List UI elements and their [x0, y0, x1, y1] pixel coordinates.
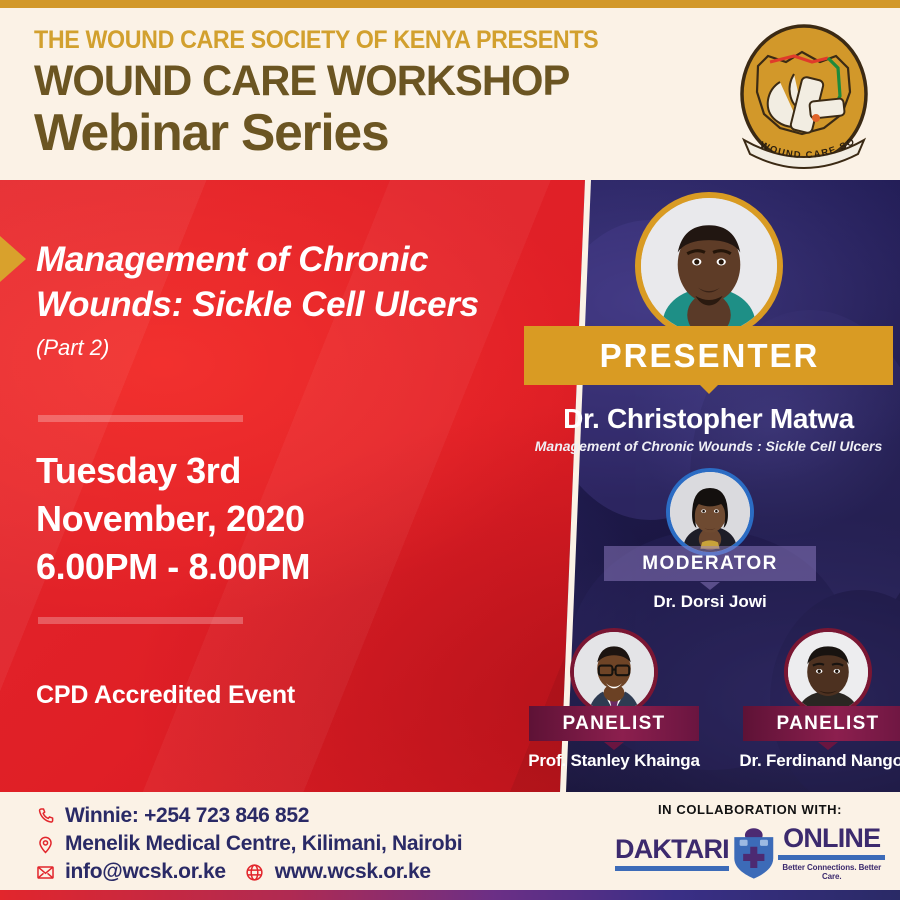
contact-row-address: Menelik Medical Centre, Kilimani, Nairob… — [32, 830, 462, 858]
event-datetime: Tuesday 3rd November, 2020 6.00PM - 8.00… — [36, 447, 310, 592]
contact-row-email-web: info@wcsk.or.ke www.wcsk.or.ke — [32, 858, 462, 886]
presenter-photo — [641, 198, 777, 334]
contact-row-phone: Winnie: +254 723 846 852 — [32, 802, 462, 830]
daktari-online-logo: DAKTARI ONLINE Better Connections. Bette… — [615, 824, 885, 882]
divider-top — [38, 415, 243, 422]
header-series-line: Webinar Series — [34, 106, 635, 161]
moderator-role-label: MODERATOR — [642, 553, 777, 574]
panelist-2-photo — [788, 632, 868, 712]
online-underline — [778, 855, 885, 860]
panelist-1-role-label: PANELIST — [563, 713, 666, 734]
contact-website-text[interactable]: www.wcsk.or.ke — [275, 860, 431, 884]
daktari-tagline: Better Connections. Better Care. — [778, 863, 885, 881]
moderator-name: Dr. Dorsi Jowi — [580, 592, 840, 612]
panelist-1-name: Prof. Stanley Khainga — [498, 751, 730, 771]
phone-icon — [32, 807, 58, 826]
panelist-1-role-badge: PANELIST — [529, 706, 700, 741]
wcsk-logo: WOUND CARE SOCIETY OF KENYA — [724, 22, 884, 182]
collaboration-block: IN COLLABORATION WITH: DAKTARI ONLINE Be… — [615, 802, 885, 882]
online-text: ONLINE — [778, 825, 885, 852]
envelope-icon — [32, 863, 58, 882]
presenter-role-label: PRESENTER — [600, 337, 820, 374]
contact-email-text[interactable]: info@wcsk.or.ke — [65, 860, 226, 884]
panelist-2-role-badge: PANELIST — [743, 706, 900, 741]
panelist-block-2: PANELIST Dr. Ferdinand Nangole — [712, 628, 900, 771]
daktari-underline — [615, 866, 729, 871]
poster-header: THE WOUND CARE SOCIETY OF KENYA PRESENTS… — [0, 8, 900, 180]
panelist-1-photo — [574, 632, 654, 712]
webinar-poster: THE WOUND CARE SOCIETY OF KENYA PRESENTS… — [0, 0, 900, 900]
panelist-2-role-label: PANELIST — [777, 713, 880, 734]
event-date-line2: November, 2020 — [36, 495, 310, 543]
globe-icon — [242, 863, 268, 882]
presenter-topic: Management of Chronic Wounds : Sickle Ce… — [517, 438, 900, 454]
moderator-block: MODERATOR Dr. Dorsi Jowi — [580, 468, 840, 612]
header-text-block: THE WOUND CARE SOCIETY OF KENYA PRESENTS… — [34, 26, 641, 161]
badge-notch — [604, 742, 624, 750]
header-workshop-line: WOUND CARE WORKSHOP — [34, 59, 623, 104]
cpd-accreditation: CPD Accredited Event — [36, 681, 295, 710]
talk-part-label: (Part 2) — [36, 335, 109, 361]
poster-footer: Winnie: +254 723 846 852 Menelik Medical… — [0, 792, 900, 890]
panelist-block-1: PANELIST Prof. Stanley Khainga — [498, 628, 730, 771]
gold-arrow-icon — [0, 236, 26, 282]
contact-block: Winnie: +254 723 846 852 Menelik Medical… — [32, 802, 462, 886]
contact-phone-text[interactable]: Winnie: +254 723 846 852 — [65, 804, 309, 828]
badge-notch — [699, 384, 719, 394]
bottom-gradient-strip — [0, 890, 900, 900]
talk-title: Management of Chronic Wounds: Sickle Cel… — [36, 238, 536, 328]
presenter-avatar — [635, 192, 783, 340]
badge-notch — [700, 582, 720, 590]
moderator-avatar — [666, 468, 754, 556]
panelist-2-avatar — [784, 628, 872, 716]
moderator-role-badge: MODERATOR — [604, 546, 815, 581]
presenter-block: PRESENTER Dr. Christopher Matwa Manageme… — [517, 192, 900, 454]
location-pin-icon — [32, 835, 58, 854]
wcsk-logo-icon: WOUND CARE SOCIETY OF KENYA — [724, 22, 884, 182]
moderator-photo — [670, 472, 750, 552]
event-date-line1: Tuesday 3rd — [36, 447, 310, 495]
presenter-name: Dr. Christopher Matwa — [517, 403, 900, 435]
daktari-text: DAKTARI — [615, 836, 729, 863]
badge-notch — [818, 742, 838, 750]
contact-address-text: Menelik Medical Centre, Kilimani, Nairob… — [65, 832, 462, 856]
daktari-wordmark-left: DAKTARI — [615, 836, 729, 871]
panelist-2-name: Dr. Ferdinand Nangole — [712, 751, 900, 771]
poster-main-panel: Management of Chronic Wounds: Sickle Cel… — [0, 180, 900, 792]
collaboration-title: IN COLLABORATION WITH: — [615, 802, 885, 817]
presenter-role-badge: PRESENTER — [524, 326, 894, 385]
daktari-wordmark-right: ONLINE Better Connections. Better Care. — [778, 825, 885, 881]
event-time: 6.00PM - 8.00PM — [36, 543, 310, 591]
panelist-1-avatar — [570, 628, 658, 716]
top-gold-strip — [0, 0, 900, 8]
header-kicker: THE WOUND CARE SOCIETY OF KENYA PRESENTS — [34, 26, 598, 55]
divider-bottom — [38, 617, 243, 624]
medical-shield-icon — [729, 824, 779, 882]
